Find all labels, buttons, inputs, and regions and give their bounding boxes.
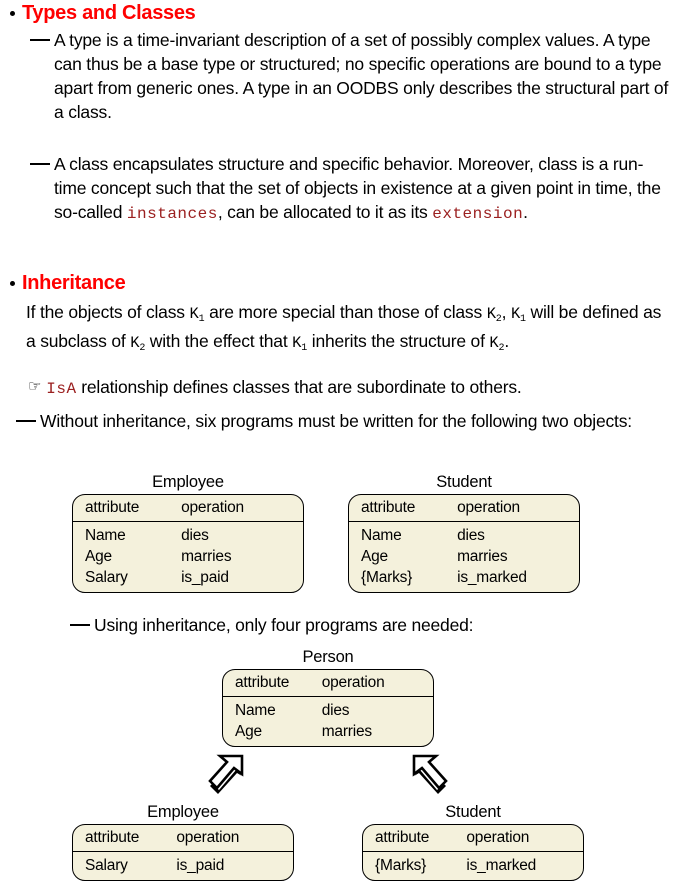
- text-type-definition: A type is a time-invariant description o…: [54, 28, 670, 124]
- cell-attribute: {Marks}: [349, 567, 457, 588]
- class-row: Age marries: [349, 546, 579, 567]
- text-class-mid: , can be allocated to it as its: [218, 202, 432, 222]
- slide-canvas: Types and Classes A type is a time-invar…: [0, 0, 680, 880]
- symbol-k2-b: K2: [130, 334, 145, 352]
- class-box: attribute operation Name dies Age marrie…: [72, 494, 304, 593]
- text-without-inheritance: Without inheritance, six programs must b…: [40, 409, 632, 433]
- class-box-header: attribute operation: [223, 670, 433, 697]
- symbol-k-letter: K: [489, 334, 498, 352]
- heading-types-and-classes: Types and Classes: [22, 2, 196, 24]
- pointing-hand-icon: ☞: [28, 375, 41, 399]
- class-box: attribute operation Name dies Age marrie…: [348, 494, 580, 593]
- class-box-employee-sub: Employee attribute operation Salary is_p…: [72, 803, 294, 881]
- para-seg-2: are more special than those of class: [204, 302, 486, 322]
- dash-bullet-icon: [70, 624, 90, 626]
- dash-item-class-definition: A class encapsulates structure and speci…: [30, 152, 670, 226]
- cell-operation: is_marked: [466, 855, 583, 876]
- cell-attribute: Salary: [73, 855, 176, 876]
- class-title: Student: [362, 803, 584, 822]
- class-row: Name dies: [223, 700, 433, 721]
- column-header-attribute: attribute: [349, 497, 457, 518]
- symbol-k1-a: K1: [189, 305, 204, 323]
- paragraph-inheritance: If the objects of class K1 are more spec…: [26, 300, 674, 358]
- class-row: Salary is_paid: [73, 567, 303, 588]
- column-header-operation: operation: [457, 497, 579, 518]
- bullet-inheritance: Inheritance: [10, 272, 125, 294]
- para-seg-3: ,: [502, 302, 511, 322]
- column-header-attribute: attribute: [73, 497, 181, 518]
- class-title: Student: [348, 473, 580, 492]
- heading-inheritance: Inheritance: [22, 272, 125, 294]
- bullet-types-and-classes: Types and Classes: [10, 2, 196, 24]
- class-box-person-super: Person attribute operation Name dies Age…: [222, 648, 434, 747]
- cell-operation: marries: [181, 546, 303, 567]
- symbol-k-letter: K: [487, 305, 496, 323]
- symbol-k2-c: K2: [489, 334, 504, 352]
- para-seg-6: inherits the structure of: [307, 331, 489, 351]
- para-seg-1: If the objects of class: [26, 302, 189, 322]
- note-isa-tail: relationship defines classes that are su…: [77, 377, 522, 397]
- class-title: Employee: [72, 803, 294, 822]
- class-box-student-independent: Student attribute operation Name dies Ag…: [348, 473, 580, 593]
- symbol-k-letter: K: [130, 334, 139, 352]
- cell-operation: dies: [181, 525, 303, 546]
- class-box: attribute operation Name dies Age marrie…: [222, 669, 434, 747]
- column-header-operation: operation: [466, 827, 583, 848]
- class-box-body: Name dies Age marries: [223, 697, 433, 746]
- symbol-k-letter: K: [511, 305, 520, 323]
- cell-attribute: Name: [223, 700, 322, 721]
- note-isa-relationship: ☞ IsA relationship defines classes that …: [28, 375, 676, 401]
- cell-operation: is_paid: [176, 855, 293, 876]
- symbol-k-subscript: 1: [199, 314, 205, 325]
- class-box-header: attribute operation: [73, 825, 293, 852]
- code-extension: extension: [432, 205, 523, 223]
- class-box-body: Salary is_paid: [73, 852, 293, 880]
- class-box-header: attribute operation: [73, 495, 303, 522]
- dash-bullet-icon: [30, 163, 50, 165]
- cell-operation: marries: [322, 721, 433, 742]
- class-box-body: Name dies Age marries Salary is_paid: [73, 522, 303, 592]
- symbol-k-subscript: 2: [496, 314, 502, 325]
- cell-operation: dies: [457, 525, 579, 546]
- symbol-k2-a: K2: [487, 305, 502, 323]
- class-row: Name dies: [73, 525, 303, 546]
- class-row: Age marries: [73, 546, 303, 567]
- symbol-k-subscript: 2: [139, 343, 145, 354]
- dash-bullet-icon: [30, 39, 50, 41]
- cell-attribute: Name: [349, 525, 457, 546]
- class-title: Employee: [72, 473, 304, 492]
- symbol-k-letter: K: [292, 334, 301, 352]
- symbol-k1-c: K1: [292, 334, 307, 352]
- cell-operation: marries: [457, 546, 579, 567]
- bullet-dot-icon: [10, 11, 15, 16]
- class-box-body: {Marks} is_marked: [363, 852, 583, 880]
- cell-operation: is_marked: [457, 567, 579, 588]
- text-using-inheritance: Using inheritance, only four programs ar…: [94, 613, 473, 637]
- cell-attribute: Salary: [73, 567, 181, 588]
- class-row: Salary is_paid: [73, 855, 293, 876]
- class-box-employee-independent: Employee attribute operation Name dies A…: [72, 473, 304, 593]
- dash-item-type-definition: A type is a time-invariant description o…: [30, 28, 670, 124]
- column-header-attribute: attribute: [223, 672, 322, 693]
- symbol-k-subscript: 2: [499, 343, 505, 354]
- code-isa: IsA: [46, 380, 76, 398]
- dash-item-without-inheritance: Without inheritance, six programs must b…: [16, 409, 656, 433]
- inheritance-arrow-right: [401, 750, 453, 803]
- class-row: Age marries: [223, 721, 433, 742]
- class-box-body: Name dies Age marries {Marks} is_marked: [349, 522, 579, 592]
- symbol-k-letter: K: [189, 305, 198, 323]
- cell-attribute: Age: [73, 546, 181, 567]
- class-box-header: attribute operation: [363, 825, 583, 852]
- class-box-header: attribute operation: [349, 495, 579, 522]
- cell-operation: is_paid: [181, 567, 303, 588]
- dash-item-using-inheritance: Using inheritance, only four programs ar…: [70, 613, 670, 637]
- symbol-k-subscript: 1: [301, 343, 307, 354]
- column-header-operation: operation: [181, 497, 303, 518]
- cell-attribute: {Marks}: [363, 855, 466, 876]
- dash-bullet-icon: [16, 420, 36, 422]
- para-seg-7: .: [504, 331, 509, 351]
- cell-operation: dies: [322, 700, 433, 721]
- code-instances: instances: [127, 205, 218, 223]
- note-isa-text: IsA relationship defines classes that ar…: [46, 375, 521, 401]
- symbol-k-subscript: 1: [520, 314, 526, 325]
- class-row: {Marks} is_marked: [363, 855, 583, 876]
- cell-attribute: Age: [349, 546, 457, 567]
- class-box: attribute operation Salary is_paid: [72, 824, 294, 881]
- class-box: attribute operation {Marks} is_marked: [362, 824, 584, 881]
- cell-attribute: Age: [223, 721, 322, 742]
- column-header-operation: operation: [176, 827, 293, 848]
- para-seg-5: with the effect that: [145, 331, 292, 351]
- symbol-k1-b: K1: [511, 305, 526, 323]
- class-row: {Marks} is_marked: [349, 567, 579, 588]
- column-header-attribute: attribute: [73, 827, 176, 848]
- column-header-attribute: attribute: [363, 827, 466, 848]
- bullet-dot-icon: [10, 281, 15, 286]
- column-header-operation: operation: [322, 672, 433, 693]
- text-class-tail: .: [523, 202, 528, 222]
- class-box-student-sub: Student attribute operation {Marks} is_m…: [362, 803, 584, 881]
- cell-attribute: Name: [73, 525, 181, 546]
- text-class-definition: A class encapsulates structure and speci…: [54, 152, 670, 226]
- inheritance-arrow-left: [203, 750, 255, 803]
- class-row: Name dies: [349, 525, 579, 546]
- class-title: Person: [222, 648, 434, 667]
